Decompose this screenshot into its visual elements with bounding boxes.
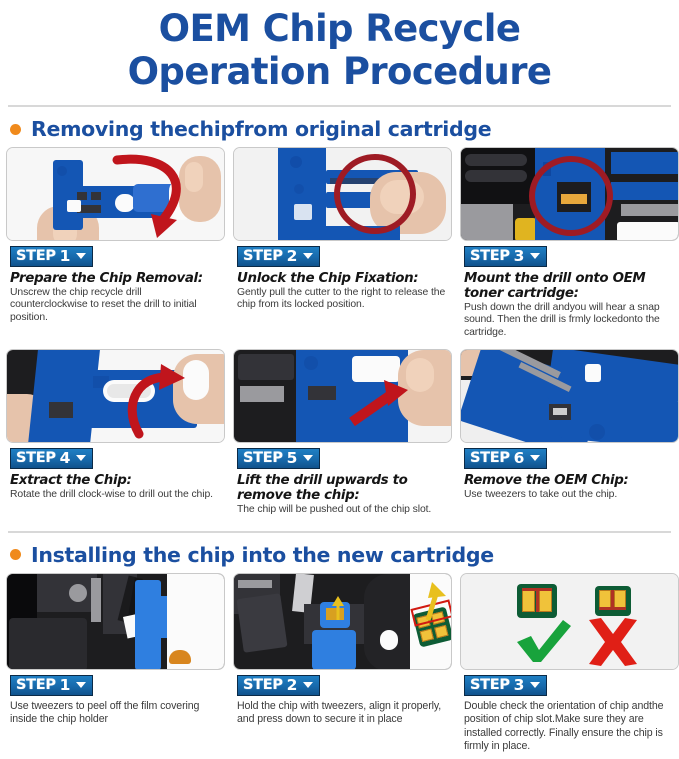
chevron-down-icon — [76, 682, 86, 688]
section-title-installing: Installing the chip into the new cartrid… — [31, 543, 494, 567]
step-badge-wrap-1: STEP 1 — [6, 241, 225, 270]
install-step-body-2: Hold the chip with tweezers, align it pr… — [237, 700, 448, 727]
step-cell-6: STEP 6 Remove the OEM Chip: Use tweezers… — [460, 349, 679, 516]
step-badge-4[interactable]: STEP 4 — [10, 448, 93, 469]
step-badge-number: 5 — [287, 450, 298, 466]
step-badge-word: STEP — [243, 248, 283, 264]
install-step-caption-1: Use tweezers to peel off the film coveri… — [6, 699, 225, 727]
step-badge-word: STEP — [243, 677, 283, 693]
step-title-3: Mount the drill onto OEM toner cartridge… — [464, 271, 675, 301]
steps-row-1: STEP 1 Prepare the Chip Removal: Unscrew… — [0, 147, 679, 339]
step-badge-wrap-5: STEP 5 — [233, 443, 452, 472]
step-cell-4: STEP 4 Extract the Chip: Rotate the dril… — [6, 349, 225, 516]
step-badge-number: 3 — [514, 248, 525, 264]
steps-row-3: STEP 1 Use tweezers to peel off the film… — [0, 573, 679, 754]
install-step-cell-1: STEP 1 Use tweezers to peel off the film… — [6, 573, 225, 754]
step-cell-3: STEP 3 Mount the drill onto OEM toner ca… — [460, 147, 679, 339]
install-step-body-1: Use tweezers to peel off the film coveri… — [10, 700, 221, 727]
chip-orientation-wrong-icon — [595, 586, 631, 616]
step-photo-1 — [6, 147, 225, 241]
page-title-line-1: OEM Chip Recycle — [159, 7, 521, 50]
step-badge-word: STEP — [470, 450, 510, 466]
step-badge-number: 3 — [514, 677, 525, 693]
step-badge-wrap-2: STEP 2 — [233, 241, 452, 270]
install-step-body-3: Double check the orientation of chip and… — [464, 700, 675, 754]
step-photo-4 — [6, 349, 225, 443]
install-step-cell-2: STEP 2 Hold the chip with tweezers, alig… — [233, 573, 452, 754]
red-curved-arrow-icon — [117, 356, 203, 442]
step-badge-word: STEP — [470, 248, 510, 264]
steps-row-2: STEP 4 Extract the Chip: Rotate the dril… — [0, 349, 679, 516]
step-badge-word: STEP — [470, 677, 510, 693]
install-step-caption-3: Double check the orientation of chip and… — [460, 699, 679, 754]
chevron-down-icon — [530, 455, 540, 461]
red-cross-icon — [585, 618, 641, 666]
step-body-1: Unscrew the chip recycle drill countercl… — [10, 287, 221, 324]
chevron-down-icon — [76, 455, 86, 461]
step-cell-2: STEP 2 Unlock the Chip Fixation: Gently … — [233, 147, 452, 339]
step-body-2: Gently pull the cutter to the right to r… — [237, 287, 448, 312]
red-curved-arrow-icon — [99, 152, 209, 241]
step-badge-wrap-3: STEP 3 — [460, 241, 679, 270]
step-caption-6: Remove the OEM Chip: Use tweezers to tak… — [460, 472, 679, 501]
step-body-3: Push down the drill andyou will hear a s… — [464, 302, 675, 339]
step-badge-2[interactable]: STEP 2 — [237, 246, 320, 267]
chevron-down-icon — [530, 682, 540, 688]
step-title-5: Lift the drill upwards to remove the chi… — [237, 473, 448, 503]
yellow-up-arrow-icon — [420, 580, 450, 622]
step-badge-number: 1 — [60, 248, 71, 264]
step-badge-6[interactable]: STEP 6 — [464, 448, 547, 469]
step-photo-3 — [460, 147, 679, 241]
install-step-caption-2: Hold the chip with tweezers, align it pr… — [233, 699, 452, 727]
step-badge-number: 4 — [60, 450, 71, 466]
section-header-removing: Removing thechipfrom original cartridge — [0, 107, 679, 147]
install-badge-wrap-2: STEP 2 — [233, 670, 452, 699]
chevron-down-icon — [303, 253, 313, 259]
install-step-badge-3[interactable]: STEP 3 — [464, 675, 547, 696]
bullet-icon — [10, 549, 21, 560]
install-badge-wrap-1: STEP 1 — [6, 670, 225, 699]
install-step-photo-2 — [233, 573, 452, 670]
step-body-4: Rotate the drill clock-wise to drill out… — [10, 489, 221, 501]
step-caption-5: Lift the drill upwards to remove the chi… — [233, 472, 452, 516]
install-step-cell-3: STEP 3 Double check the orientation of c… — [460, 573, 679, 754]
step-photo-6 — [460, 349, 679, 443]
step-body-6: Use tweezers to take out the chip. — [464, 489, 675, 501]
red-highlight-circle-icon — [529, 156, 613, 236]
red-highlight-circle-icon — [334, 154, 416, 234]
step-badge-word: STEP — [243, 450, 283, 466]
infographic-page: OEM Chip Recycle Operation Procedure Rem… — [0, 0, 679, 759]
step-caption-2: Unlock the Chip Fixation: Gently pull th… — [233, 270, 452, 312]
step-badge-word: STEP — [16, 248, 56, 264]
chevron-down-icon — [530, 253, 540, 259]
step-badge-wrap-4: STEP 4 — [6, 443, 225, 472]
step-badge-3[interactable]: STEP 3 — [464, 246, 547, 267]
step-badge-word: STEP — [16, 450, 56, 466]
step-badge-wrap-6: STEP 6 — [460, 443, 679, 472]
chevron-down-icon — [303, 455, 313, 461]
bullet-icon — [10, 124, 21, 135]
install-badge-wrap-3: STEP 3 — [460, 670, 679, 699]
step-badge-number: 2 — [287, 677, 298, 693]
red-straight-arrow-icon — [346, 378, 416, 430]
step-badge-number: 6 — [514, 450, 525, 466]
chevron-down-icon — [303, 682, 313, 688]
step-badge-word: STEP — [16, 677, 56, 693]
chip-orientation-correct-icon — [517, 584, 557, 618]
step-caption-4: Extract the Chip: Rotate the drill clock… — [6, 472, 225, 501]
yellow-up-arrow-icon — [330, 596, 348, 622]
step-caption-1: Prepare the Chip Removal: Unscrew the ch… — [6, 270, 225, 324]
step-badge-1[interactable]: STEP 1 — [10, 246, 93, 267]
step-body-5: The chip will be pushed out of the chip … — [237, 504, 448, 516]
section-header-installing: Installing the chip into the new cartrid… — [0, 533, 679, 573]
green-check-icon — [513, 618, 575, 666]
section-title-removing: Removing thechipfrom original cartridge — [31, 117, 491, 141]
step-photo-2 — [233, 147, 452, 241]
install-step-photo-1 — [6, 573, 225, 670]
page-title: OEM Chip Recycle Operation Procedure — [0, 0, 679, 93]
chevron-down-icon — [76, 253, 86, 259]
page-title-line-2: Operation Procedure — [0, 50, 679, 93]
install-step-badge-2[interactable]: STEP 2 — [237, 675, 320, 696]
install-step-badge-1[interactable]: STEP 1 — [10, 675, 93, 696]
step-cell-5: STEP 5 Lift the drill upwards to remove … — [233, 349, 452, 516]
step-badge-number: 2 — [287, 248, 298, 264]
step-badge-5[interactable]: STEP 5 — [237, 448, 320, 469]
step-title-2: Unlock the Chip Fixation: — [237, 271, 448, 286]
step-title-6: Remove the OEM Chip: — [464, 473, 675, 488]
step-title-4: Extract the Chip: — [10, 473, 221, 488]
step-photo-5 — [233, 349, 452, 443]
step-title-1: Prepare the Chip Removal: — [10, 271, 221, 286]
install-step-photo-3 — [460, 573, 679, 670]
step-badge-number: 1 — [60, 677, 71, 693]
step-caption-3: Mount the drill onto OEM toner cartridge… — [460, 270, 679, 339]
step-cell-1: STEP 1 Prepare the Chip Removal: Unscrew… — [6, 147, 225, 339]
